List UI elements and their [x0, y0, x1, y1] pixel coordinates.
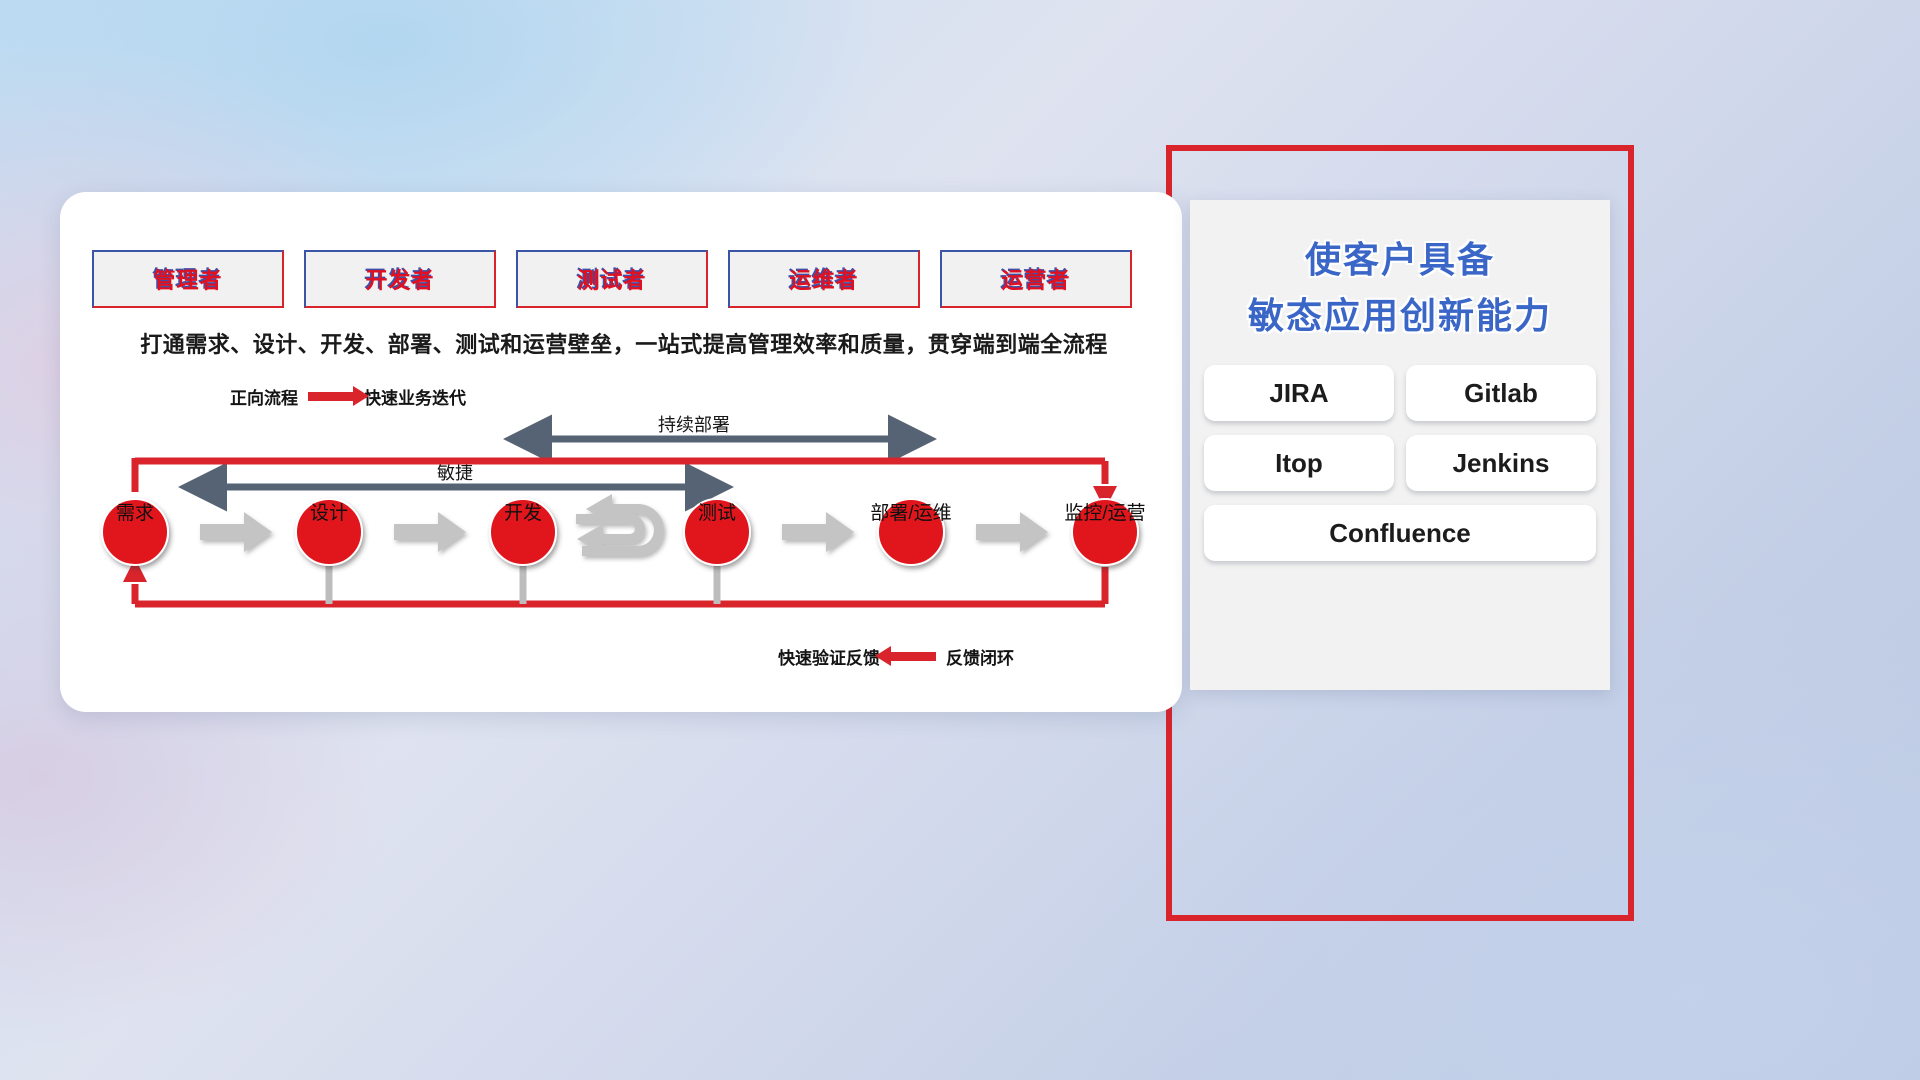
node-label-monitor-operate: 监控/运营 — [1064, 498, 1145, 525]
legend-feedback-to: 反馈闭环 — [946, 644, 1014, 669]
tool-chip-confluence[interactable]: Confluence — [1204, 505, 1596, 561]
capability-title-line2: 敏态应用创新能力 — [1190, 292, 1610, 340]
node-label-develop: 开发 — [504, 498, 542, 525]
tool-chip-jenkins[interactable]: Jenkins — [1406, 435, 1596, 491]
capability-title-line1: 使客户具备 — [1190, 236, 1610, 284]
tool-chip-group: JIRA Gitlab Itop Jenkins Confluence — [1190, 365, 1610, 561]
capability-card: 使客户具备 敏态应用创新能力 JIRA Gitlab Itop Jenkins … — [1190, 200, 1610, 690]
gray-block-arrow-icon — [200, 512, 272, 552]
legend-feedback-from: 快速验证反馈 — [778, 644, 880, 669]
gray-block-arrow-icon — [782, 512, 854, 552]
gray-block-arrow-icon — [394, 512, 466, 552]
gray-uturn-loop-arrow-icon — [576, 490, 666, 556]
node-label-test: 测试 — [698, 498, 736, 525]
arrow-left-red-icon — [890, 652, 936, 661]
tool-chip-gitlab[interactable]: Gitlab — [1406, 365, 1596, 421]
node-label-deploy-ops: 部署/运维 — [870, 498, 951, 525]
tool-chip-jira[interactable]: JIRA — [1204, 365, 1394, 421]
gray-block-arrow-icon — [976, 512, 1048, 552]
devops-pipeline-card: 管理者 开发者 测试者 运维者 运营者 打通需求、设计、开发、部署、测试和运营壁… — [60, 192, 1182, 712]
node-label-requirement: 需求 — [116, 498, 154, 525]
pipeline-flow-diagram — [60, 192, 1182, 712]
node-label-design: 设计 — [310, 498, 348, 525]
legend-feedback-loop: 快速验证反馈 反馈闭环 — [778, 644, 1014, 669]
tool-chip-itop[interactable]: Itop — [1204, 435, 1394, 491]
red-feedback-loop — [135, 458, 1105, 604]
